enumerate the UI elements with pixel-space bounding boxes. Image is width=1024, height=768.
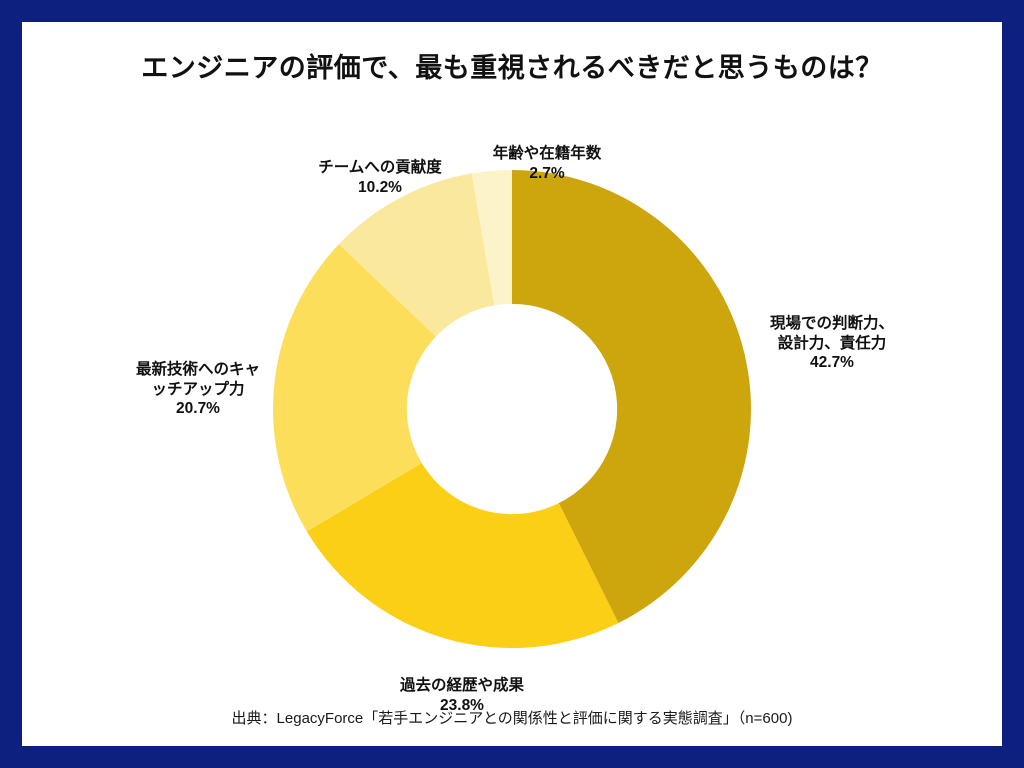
slide-canvas: エンジニアの評価で、最も重視されるべきだと思うものは？ 現場での判断力、 設計力…	[22, 22, 1002, 746]
slice-label-0-name: 現場での判断力、 設計力、責任力	[770, 315, 894, 352]
slice-label-4: 年齢や在籍年数 2.7%	[462, 124, 632, 203]
donut-slice-1	[307, 463, 619, 648]
donut-slices	[273, 170, 751, 648]
slice-label-0-value: 42.7%	[734, 353, 930, 373]
slice-label-3: チームへの貢献度 10.2%	[300, 138, 460, 217]
slice-label-4-name: 年齢や在籍年数	[493, 145, 602, 162]
slice-label-0: 現場での判断力、 設計力、責任力 42.7%	[734, 294, 930, 393]
page-title: エンジニアの評価で、最も重視されるべきだと思うものは？	[22, 52, 1002, 84]
slice-label-3-value: 10.2%	[300, 178, 460, 198]
slice-label-3-name: チームへの貢献度	[318, 159, 442, 176]
slice-label-1-name: 過去の経歴や成果	[400, 677, 524, 694]
donut-slice-0	[512, 170, 751, 623]
slice-label-2-name: 最新技術へのキャ ッチアップ力	[136, 361, 260, 398]
slice-label-2-value: 20.7%	[118, 399, 278, 419]
slice-label-4-value: 2.7%	[462, 164, 632, 184]
slice-label-2: 最新技術へのキャ ッチアップ力 20.7%	[118, 340, 278, 439]
donut-slice-2	[273, 244, 436, 531]
slide-frame: エンジニアの評価で、最も重視されるべきだと思うものは？ 現場での判断力、 設計力…	[0, 0, 1024, 768]
source-note: 出典：LegacyForce「若手エンジニアとの関係性と評価に関する実態調査」（…	[22, 707, 1002, 728]
